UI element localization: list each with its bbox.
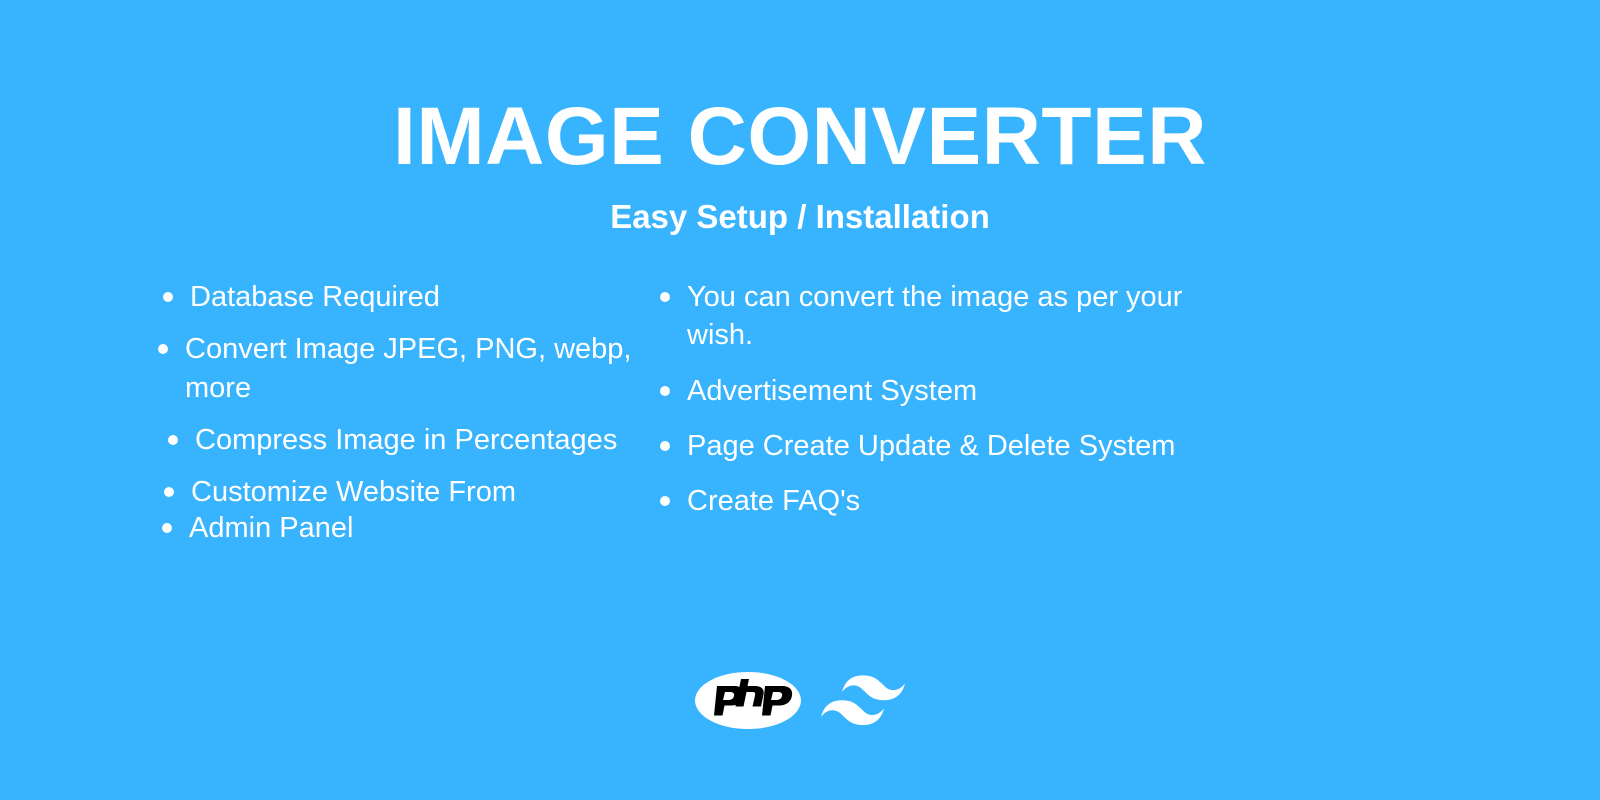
page-title: IMAGE CONVERTER [0,96,1600,178]
list-item: Customize Website From [155,473,640,511]
list-item-label: You can convert the image as per your wi… [687,278,1232,355]
list-item: You can convert the image as per your wi… [660,278,1400,355]
title-block: IMAGE CONVERTER Easy Setup / Installatio… [0,96,1600,233]
list-item-label: Convert Image JPEG, PNG, webp, more [185,330,640,407]
bullet-icon [164,487,174,497]
list-item-label: Customize Website From [191,473,640,511]
list-item: Advertisement System [660,372,1400,410]
list-item: Page Create Update & Delete System [660,427,1400,465]
list-item: Convert Image JPEG, PNG, webp, more [155,330,640,407]
list-item: Create FAQ's [660,482,1400,520]
bullet-icon [163,292,173,302]
list-item: Database Required [155,278,640,316]
list-item-label: Database Required [190,278,640,316]
bullet-icon [158,344,168,354]
list-item-label: Page Create Update & Delete System [687,427,1400,465]
bullet-icon [168,435,178,445]
list-item-label: Create FAQ's [687,482,1400,520]
feature-list-right: You can convert the image as per your wi… [640,278,1400,537]
feature-columns: Database Required Convert Image JPEG, PN… [0,278,1600,562]
bullet-icon [660,496,670,506]
bullet-icon [660,441,670,451]
feature-list-left: Database Required Convert Image JPEG, PN… [0,278,640,562]
list-item: Compress Image in Percentages [155,421,640,459]
bullet-icon [660,292,670,302]
tailwind-css-logo-icon [821,673,905,729]
bullet-icon [162,523,172,533]
bullet-icon [660,386,670,396]
page-subtitle: Easy Setup / Installation [0,200,1600,233]
php-logo-icon [695,672,801,729]
list-item: Admin Panel [155,509,640,547]
list-item-label: Compress Image in Percentages [195,421,640,459]
promo-slide: IMAGE CONVERTER Easy Setup / Installatio… [0,0,1600,800]
list-item-label: Advertisement System [687,372,1400,410]
list-item-label: Admin Panel [189,509,640,547]
tech-logo-row [0,672,1600,729]
